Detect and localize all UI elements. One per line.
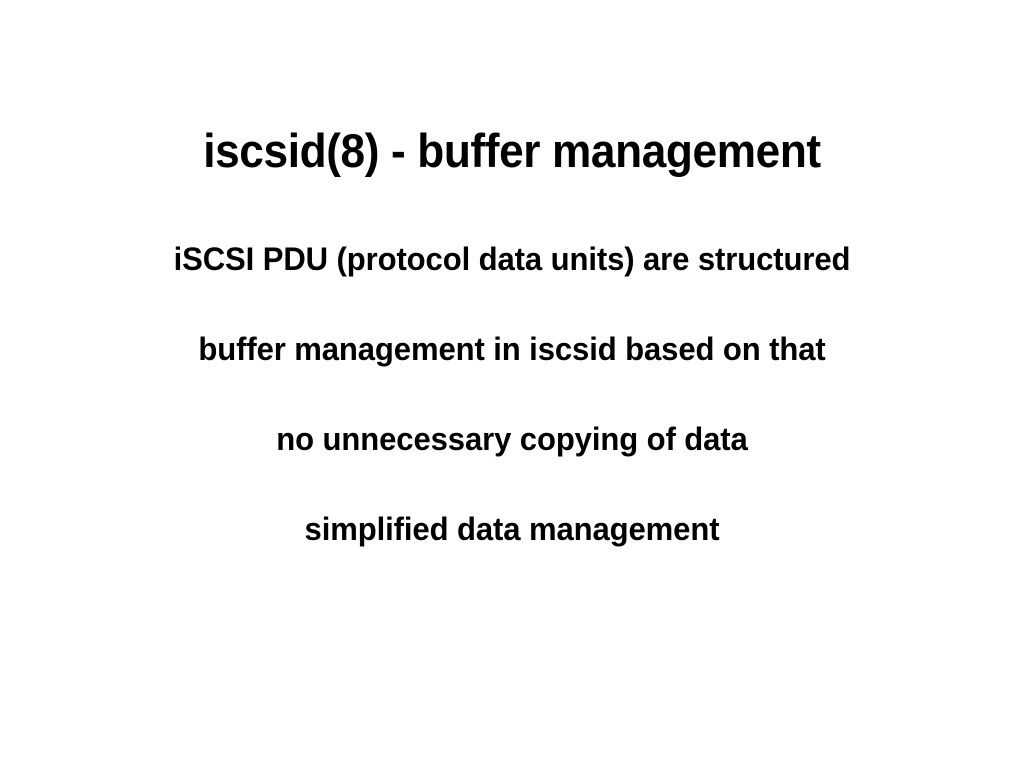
slide-body: iSCSI PDU (protocol data units) are stru… (0, 214, 1024, 574)
slide-title: iscsid(8) - buffer management (31, 123, 994, 179)
slide-empty-area (0, 560, 1024, 768)
body-line: iSCSI PDU (protocol data units) are stru… (15, 214, 1008, 304)
presentation-slide: iscsid(8) - buffer management iSCSI PDU … (0, 0, 1024, 768)
body-line: no unnecessary copying of data (15, 394, 1008, 484)
body-line: buffer management in iscsid based on tha… (15, 304, 1008, 394)
